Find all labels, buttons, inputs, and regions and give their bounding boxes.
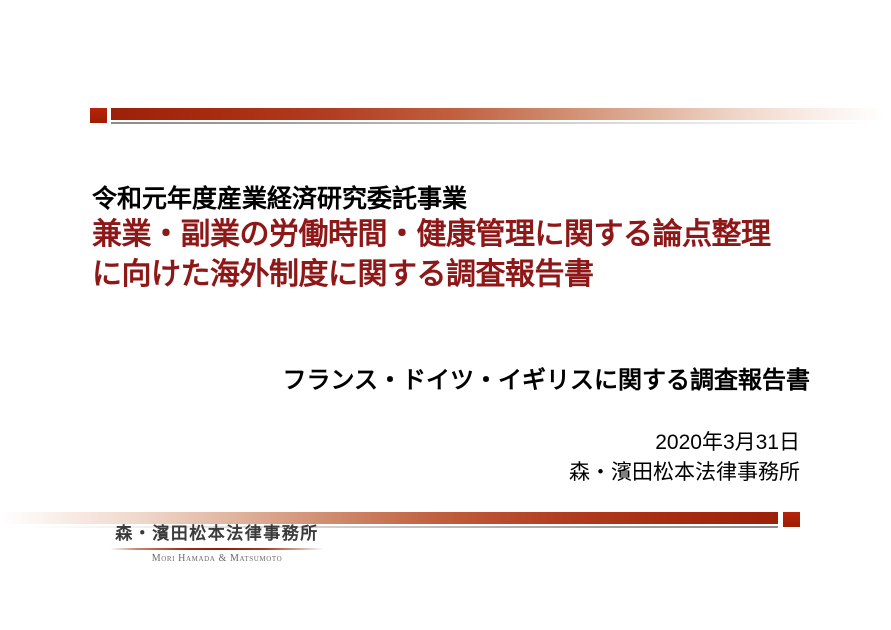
cover-meta-block: 2020年3月31日 森・濱田松本法律事務所 — [0, 428, 800, 488]
firm-logo-divider — [110, 548, 324, 550]
page-title-line-1: 兼業・副業の労働時間・健康管理に関する論点整理 — [92, 215, 771, 255]
author-organization: 森・濱田松本法律事務所 — [0, 458, 800, 488]
firm-logo-english-name: Mori Hamada & Matsumoto — [110, 553, 324, 564]
kicker-text: 令和元年度産業経済研究委託事業 — [92, 179, 467, 215]
top-gradient-rule — [0, 106, 891, 126]
report-cover-slide: 令和元年度産業経済研究委託事業 兼業・副業の労働時間・健康管理に関する論点整理 … — [0, 0, 891, 630]
firm-logo: 森・濱田松本法律事務所 Mori Hamada & Matsumoto — [110, 524, 324, 564]
firm-logo-japanese-name: 森・濱田松本法律事務所 — [110, 524, 324, 545]
top-rule-square-marker — [90, 108, 107, 123]
top-rule-thin-line — [111, 122, 891, 124]
bottom-rule-square-marker — [783, 512, 800, 527]
page-title-line-2: に向けた海外制度に関する調査報告書 — [92, 255, 771, 295]
page-title: 兼業・副業の労働時間・健康管理に関する論点整理 に向けた海外制度に関する調査報告… — [92, 215, 771, 295]
publication-date: 2020年3月31日 — [0, 428, 800, 458]
bottom-rule-gradient-bar — [0, 512, 778, 524]
page-subtitle: フランス・ドイツ・イギリスに関する調査報告書 — [0, 360, 810, 395]
top-rule-gradient-bar — [111, 108, 891, 120]
